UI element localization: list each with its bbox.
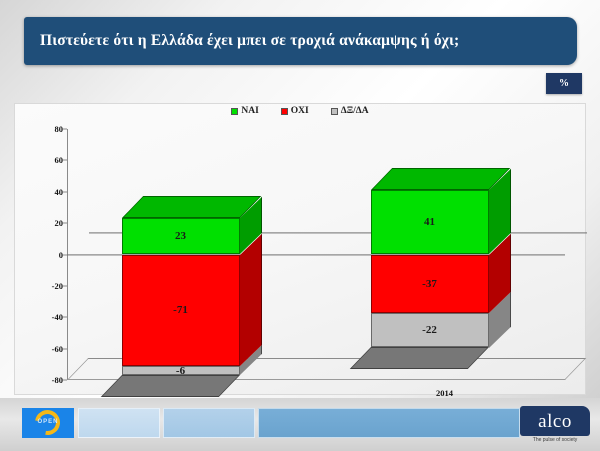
y-axis-tick-label: 20	[37, 218, 63, 228]
bar-segment-ΟΧΙ-2019[interactable]: -71	[122, 255, 240, 366]
y-axis-tick-mark	[63, 129, 67, 130]
footer-accent-bar-3	[258, 408, 520, 438]
bar-segment-ΟΧΙ-2014[interactable]: -37	[371, 255, 489, 313]
chart-legend: ΝΑΙΟΧΙΔΞ/ΔΑ	[15, 106, 585, 116]
y-axis-tick-label: 40	[37, 187, 63, 197]
title-banner: Πιστεύετε ότι η Ελλάδα έχει μπει σε τροχ…	[24, 17, 577, 65]
footer-accent-bar-1	[78, 408, 160, 438]
bar-segment-ΝΑΙ-2019[interactable]: 23	[122, 218, 240, 254]
legend-item-ΟΧΙ[interactable]: ΟΧΙ	[281, 106, 309, 116]
bar-value-label: -6	[122, 366, 240, 375]
y-axis-tick-mark	[63, 223, 67, 224]
legend-item-ΝΑΙ[interactable]: ΝΑΙ	[231, 106, 258, 116]
alco-logo-label: alco	[538, 412, 572, 431]
y-axis-tick-mark	[63, 348, 67, 349]
y-axis-tick-mark	[63, 191, 67, 192]
plot-area: 806040200-20-40-60-8023-71-6201941-37-22…	[15, 118, 587, 396]
bar-group-2019[interactable]: 23-71-6	[122, 118, 240, 369]
bar-segment-bottom	[100, 375, 239, 397]
bar-segment-ΝΑΙ-2014[interactable]: 41	[371, 190, 489, 254]
footer-accent-bar-2	[163, 408, 255, 438]
y-axis-ticks: 806040200-20-40-60-80	[35, 118, 63, 396]
legend-swatch-icon	[231, 108, 238, 115]
bar-segment-ΔΞ/ΔΑ-2019[interactable]: -6	[122, 366, 240, 375]
x-axis-category-label: 2014	[436, 388, 453, 398]
bar-value-label: -71	[122, 255, 240, 366]
alco-tagline: The pulse of society	[520, 437, 590, 443]
bar-segment-top	[122, 196, 261, 218]
y-axis-tick-mark	[63, 317, 67, 318]
legend-label: ΟΧΙ	[291, 106, 309, 116]
legend-swatch-icon	[331, 108, 338, 115]
y-axis-tick-label: -60	[37, 344, 63, 354]
bar-value-label: 41	[371, 190, 489, 254]
unit-badge: %	[546, 73, 582, 94]
bar-value-label: -22	[371, 313, 489, 348]
y-axis-tick-label: 80	[37, 124, 63, 134]
bar-group-2014[interactable]: 41-37-22	[371, 118, 489, 369]
y-axis-tick-label: 0	[37, 250, 63, 260]
footer-bar: OPEN alco The pulse of society	[0, 398, 600, 451]
legend-swatch-icon	[281, 108, 288, 115]
alco-logo: alco	[520, 406, 590, 436]
page-title: Πιστεύετε ότι η Ελλάδα έχει μπει σε τροχ…	[24, 32, 459, 50]
bar-segment-bottom	[349, 347, 488, 369]
open-logo: OPEN	[22, 408, 74, 438]
y-axis-tick-label: -40	[37, 312, 63, 322]
legend-label: ΔΞ/ΔΑ	[341, 106, 369, 116]
legend-item-ΔΞ/ΔΑ[interactable]: ΔΞ/ΔΑ	[331, 106, 369, 116]
y-axis-tick-label: -20	[37, 281, 63, 291]
legend-label: ΝΑΙ	[241, 106, 258, 116]
bar-value-label: -37	[371, 255, 489, 313]
y-axis-tick-mark	[63, 160, 67, 161]
chart-container: ΝΑΙΟΧΙΔΞ/ΔΑ 806040200-20-40-60-8023-71-6…	[14, 103, 586, 395]
bar-segment-ΔΞ/ΔΑ-2014[interactable]: -22	[371, 313, 489, 348]
y-axis-tick-label: 60	[37, 155, 63, 165]
bar-segment-side	[240, 233, 262, 366]
bar-segment-top	[371, 168, 510, 190]
y-axis-tick-mark	[63, 285, 67, 286]
bar-value-label: 23	[122, 218, 240, 254]
y-axis-tick-label: -80	[37, 375, 63, 385]
open-logo-label: OPEN	[22, 419, 74, 425]
